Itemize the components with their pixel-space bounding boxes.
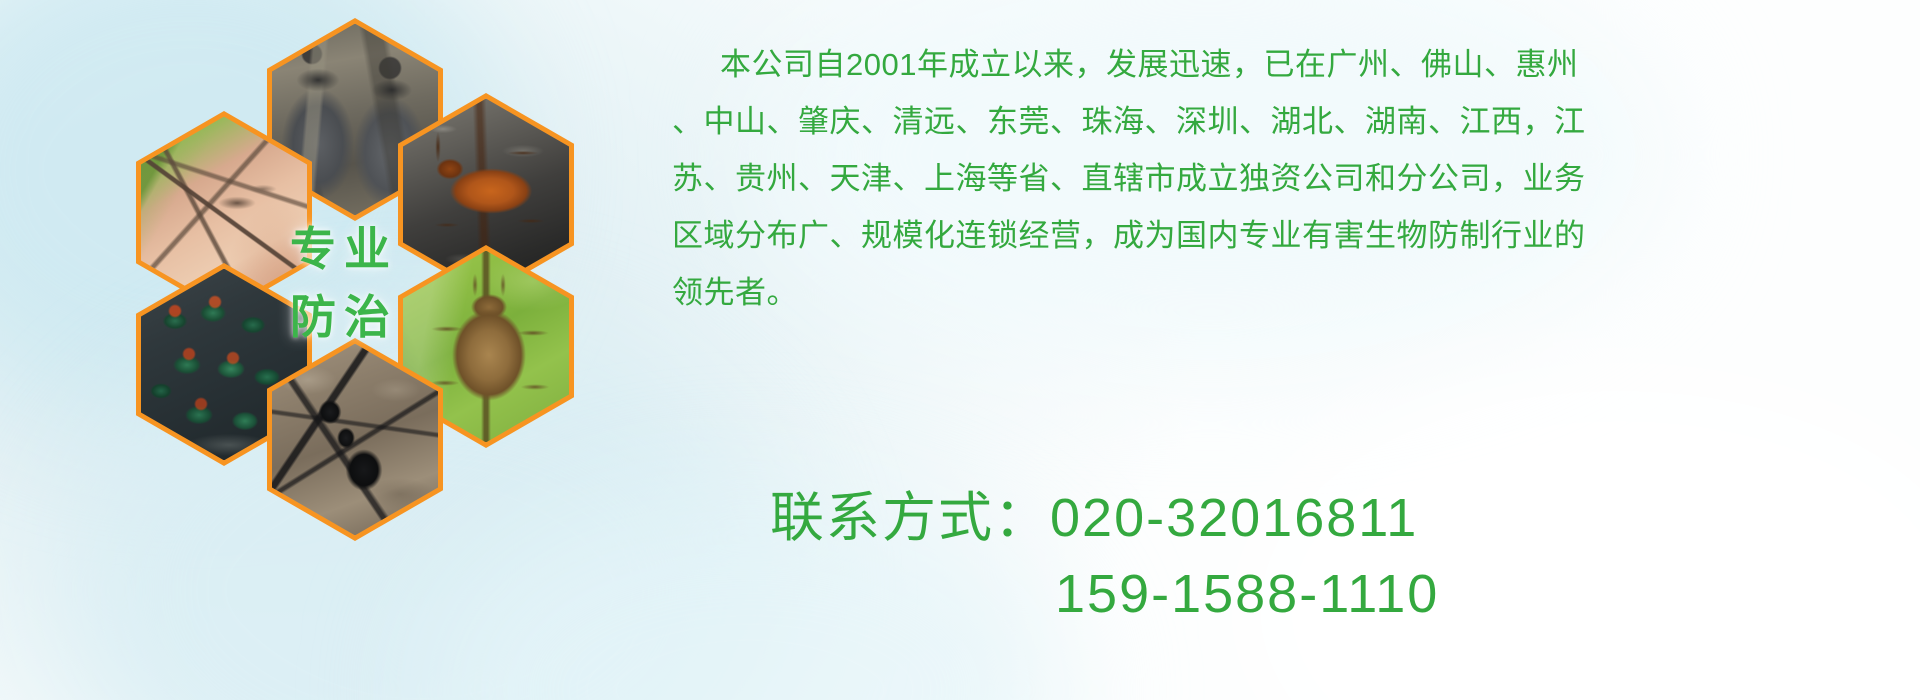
- company-description: 本公司自2001年成立以来，发展迅速，已在广州、佛山、惠州 、中山、肇庆、清远、…: [672, 36, 1892, 321]
- contact-block: 联系方式：020-32016811 159-1588-1110: [770, 480, 1439, 632]
- contact-label: 联系方式：: [770, 488, 1050, 548]
- headline-line-1: 专业: [265, 215, 415, 283]
- promo-banner: 专业 防治 本公司自2001年成立以来，发展迅速，已在广州、佛山、惠州 、中山、…: [0, 0, 1920, 700]
- honeycomb-headline: 专业 防治: [265, 215, 415, 351]
- contact-phone-primary[interactable]: 020-32016811: [1050, 488, 1418, 548]
- headline-line-2: 防治: [265, 283, 415, 351]
- description-line-4: 区域分布广、规模化连锁经营，成为国内专业有害生物防制行业的: [672, 207, 1892, 264]
- description-line-3: 苏、贵州、天津、上海等省、直辖市成立独资公司和分公司，业务: [672, 150, 1892, 207]
- description-line-2: 、中山、肇庆、清远、东莞、珠海、深圳、湖北、湖南、江西，江: [672, 93, 1892, 150]
- description-line-1: 本公司自2001年成立以来，发展迅速，已在广州、佛山、惠州: [672, 36, 1892, 93]
- hex-inner-ant: [272, 344, 438, 536]
- ant-photo: [272, 344, 438, 536]
- contact-phone-secondary[interactable]: 159-1588-1110: [770, 556, 1439, 632]
- description-line-5: 领先者。: [672, 264, 1892, 321]
